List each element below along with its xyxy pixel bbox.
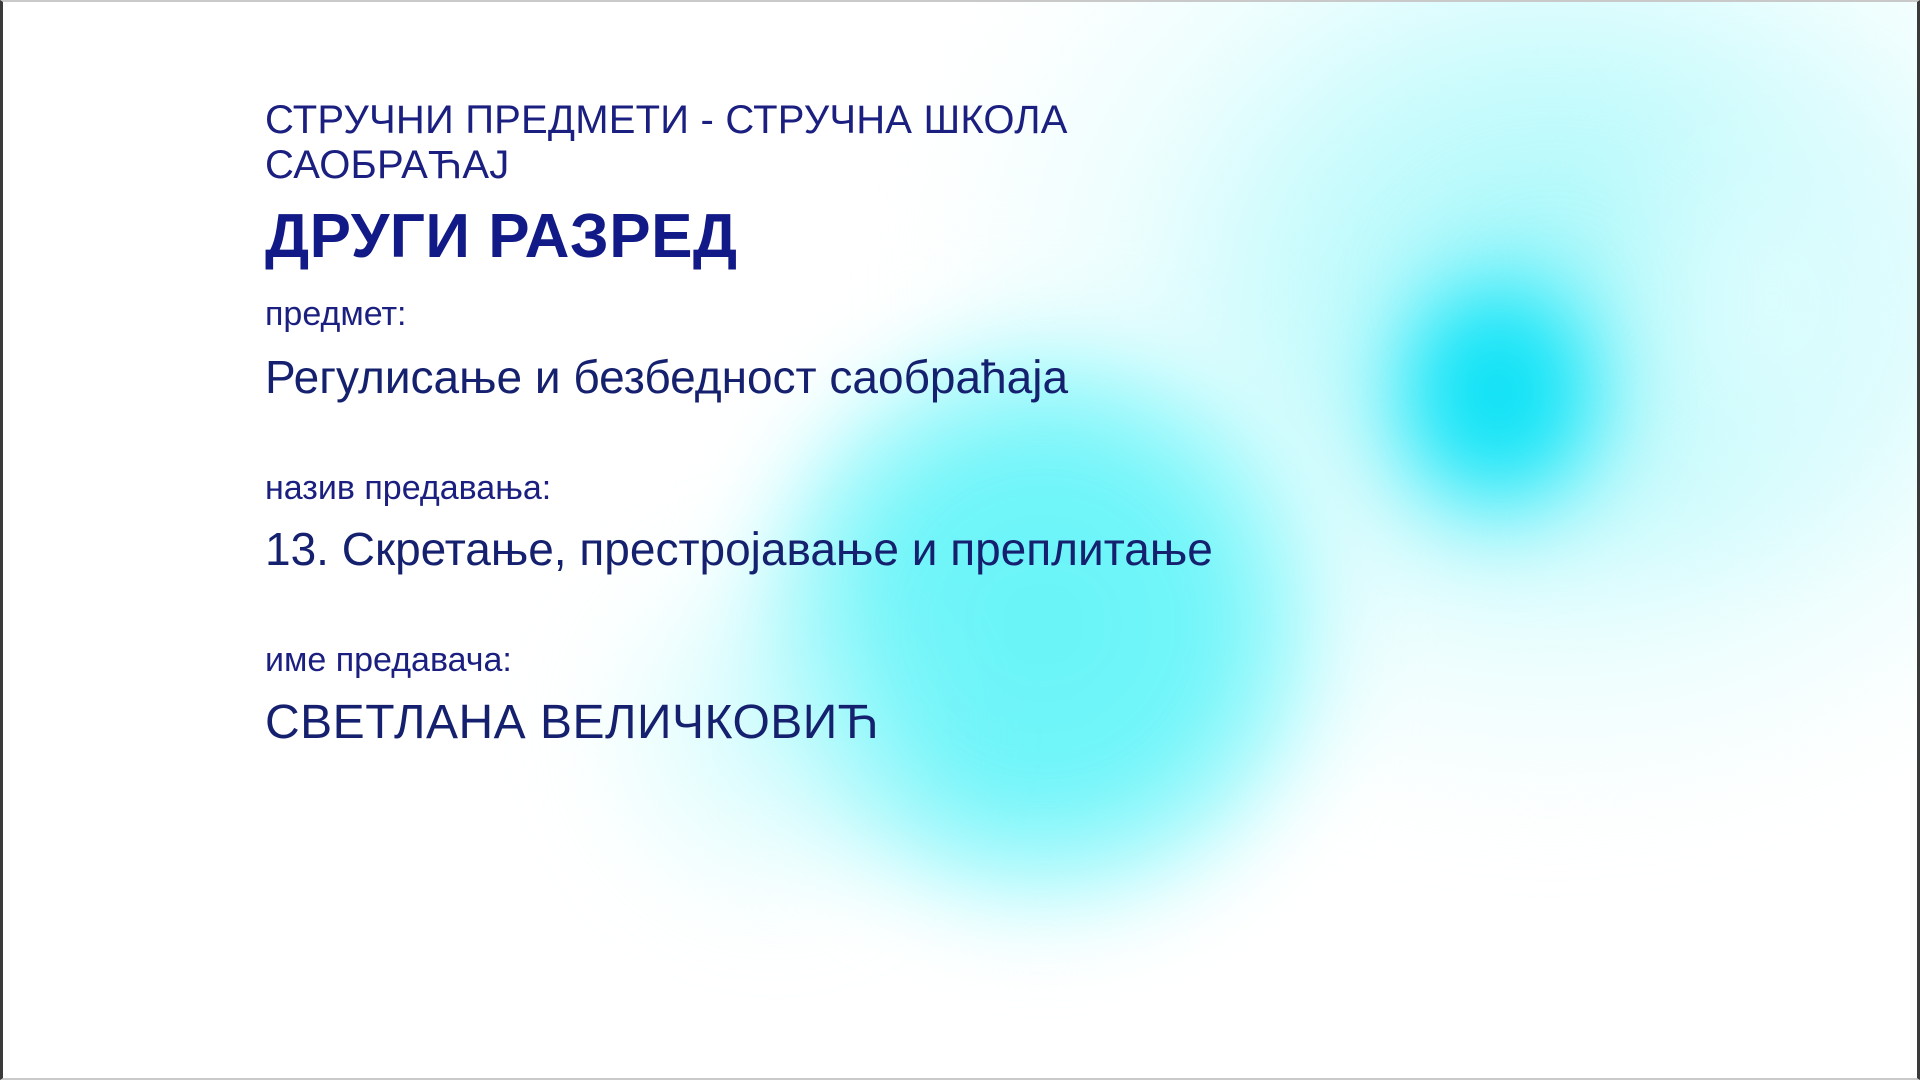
grade-title: ДРУГИ РАЗРЕД [265, 206, 1665, 268]
subject-value: Регулисање и безбедност саобраћаја [265, 350, 1665, 405]
subject-field: предмет: Регулисање и безбедност саобраћ… [265, 294, 1665, 406]
title-slide: СТРУЧНИ ПРЕДМЕТИ - СТРУЧНА ШКОЛА САОБРАЋ… [0, 0, 1920, 1080]
lecturer-label: име предавача: [265, 640, 1665, 681]
lecture-value: 13. Скретање, престројавање и преплитање [265, 522, 1665, 577]
lecturer-field: име предавача: СВЕТЛАНА ВЕЛИЧКОВИЋ [265, 640, 1665, 752]
slide-content: СТРУЧНИ ПРЕДМЕТИ - СТРУЧНА ШКОЛА САОБРАЋ… [265, 98, 1665, 752]
subject-label: предмет: [265, 294, 1665, 335]
lecture-field: назив предавања: 13. Скретање, престроја… [265, 468, 1665, 578]
lecturer-value: СВЕТЛАНА ВЕЛИЧКОВИЋ [265, 694, 1665, 752]
course-category-heading: СТРУЧНИ ПРЕДМЕТИ - СТРУЧНА ШКОЛА САОБРАЋ… [265, 98, 1665, 188]
lecture-label: назив предавања: [265, 468, 1665, 509]
